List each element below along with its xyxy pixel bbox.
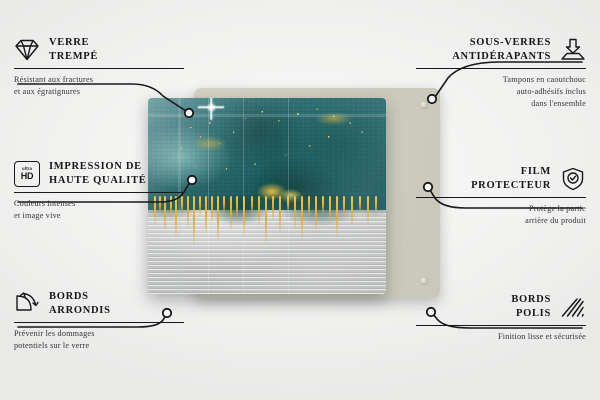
- feature-header: SOUS-VERRES ANTIDÉRAPANTS: [416, 36, 586, 64]
- feature-title-line2: POLIS: [511, 307, 551, 321]
- ultra-hd-icon: ultra HD: [14, 161, 40, 187]
- feature-desc-line2: auto-adhésifs inclus: [416, 86, 586, 98]
- feature-title: BORDS ARRONDIS: [49, 290, 111, 318]
- diamond-icon: [14, 37, 40, 63]
- feature-title: SOUS-VERRES ANTIDÉRAPANTS: [452, 36, 551, 64]
- feature-title-line2: ANTIDÉRAPANTS: [452, 50, 551, 64]
- feature-desc-line2: potentiels sur le verre: [14, 340, 184, 352]
- feature-desc-line3: dans l'ensemble: [416, 98, 586, 110]
- feature-title: VERRE TREMPÉ: [49, 36, 98, 64]
- feature-header: ultra HD IMPRESSION DE HAUTE QUALITÉ: [14, 160, 184, 188]
- rounded-corner-icon: [14, 291, 40, 317]
- rubber-foot-bottom-right: [420, 277, 428, 285]
- feature-divider: [14, 68, 184, 69]
- feature-title-line2: PROTECTEUR: [471, 179, 551, 193]
- feature-impression-hd: ultra HD IMPRESSION DE HAUTE QUALITÉ Cou…: [14, 160, 184, 222]
- feature-desc-line1: Résistant aux fractures: [14, 74, 184, 86]
- product-image: [148, 88, 440, 306]
- feature-header: VERRE TREMPÉ: [14, 36, 184, 64]
- feature-header: BORDS ARRONDIS: [14, 290, 184, 318]
- feature-desc-line1: Finition lisse et sécurisée: [416, 331, 586, 343]
- anti-slip-pad-icon: [560, 37, 586, 63]
- infographic-canvas: VERRE TREMPÉ Résistant aux fractures et …: [0, 0, 600, 400]
- feature-divider: [416, 197, 586, 198]
- feature-header: FILM PROTECTEUR: [416, 165, 586, 193]
- feature-title-line2: HAUTE QUALITÉ: [49, 174, 147, 188]
- feature-sous-verres-antiderapants: SOUS-VERRES ANTIDÉRAPANTS Tampons en cao…: [416, 36, 586, 110]
- feature-title: IMPRESSION DE HAUTE QUALITÉ: [49, 160, 147, 188]
- artwork-seam-1: [208, 98, 209, 294]
- feature-description: Couleurs intenses et image vive: [14, 198, 184, 222]
- feature-title: BORDS POLIS: [511, 293, 551, 321]
- feature-title-line2: TREMPÉ: [49, 50, 98, 64]
- feature-bords-polis: BORDS POLIS Finition lisse et sécurisée: [416, 293, 586, 343]
- feature-title-line1: VERRE: [49, 36, 98, 50]
- feature-film-protecteur: FILM PROTECTEUR Protège la partie arrièr…: [416, 165, 586, 227]
- feature-description: Protège la partie arrière du produit: [416, 203, 586, 227]
- feature-desc-line1: Prévenir les dommages: [14, 328, 184, 340]
- feature-desc-line1: Couleurs intenses: [14, 198, 184, 210]
- feature-bords-arrondis: BORDS ARRONDIS Prévenir les dommages pot…: [14, 290, 184, 352]
- feature-description: Tampons en caoutchouc auto-adhésifs incl…: [416, 74, 586, 110]
- feature-title-line2: ARRONDIS: [49, 304, 111, 318]
- shield-check-icon: [560, 166, 586, 192]
- feature-title-line1: IMPRESSION DE: [49, 160, 147, 174]
- feature-divider: [14, 192, 184, 193]
- feature-desc-line1: Protège la partie: [416, 203, 586, 215]
- feature-desc-line1: Tampons en caoutchouc: [416, 74, 586, 86]
- ultra-hd-icon-large-label: HD: [21, 172, 34, 181]
- feature-title-line1: BORDS: [511, 293, 551, 307]
- feature-divider: [416, 68, 586, 69]
- artwork-seam-3: [288, 98, 289, 294]
- feature-title-line1: BORDS: [49, 290, 111, 304]
- polished-edge-icon: [560, 294, 586, 320]
- feature-description: Prévenir les dommages potentiels sur le …: [14, 328, 184, 352]
- feature-title-line1: SOUS-VERRES: [452, 36, 551, 50]
- feature-divider: [14, 322, 184, 323]
- feature-title-line1: FILM: [471, 165, 551, 179]
- artwork-cross-line-h: [148, 114, 386, 117]
- feature-divider: [416, 325, 586, 326]
- feature-desc-line2: et aux égratignures: [14, 86, 184, 98]
- feature-desc-line2: arrière du produit: [416, 215, 586, 227]
- feature-description: Finition lisse et sécurisée: [416, 331, 586, 343]
- feature-verre-trempe: VERRE TREMPÉ Résistant aux fractures et …: [14, 36, 184, 98]
- feature-header: BORDS POLIS: [416, 293, 586, 321]
- feature-title: FILM PROTECTEUR: [471, 165, 551, 193]
- artwork-seam-2: [243, 98, 244, 294]
- feature-description: Résistant aux fractures et aux égratignu…: [14, 74, 184, 98]
- feature-desc-line2: et image vive: [14, 210, 184, 222]
